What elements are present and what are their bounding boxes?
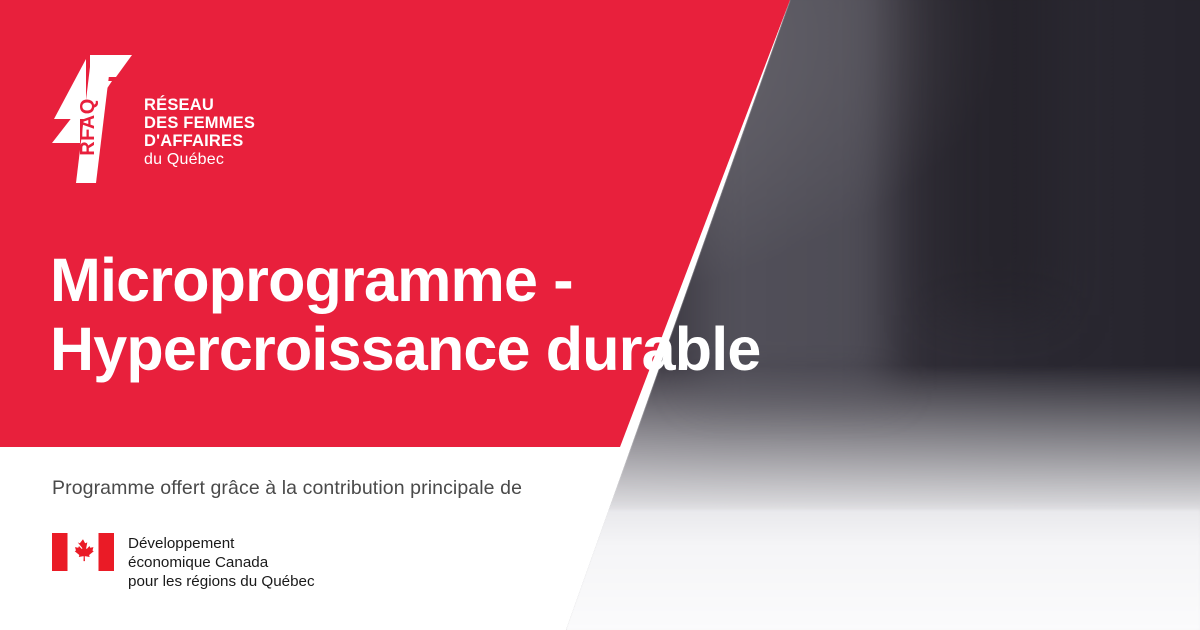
page-title: Microprogramme - Hypercroissance durable xyxy=(50,246,670,384)
brand-name-sub: du Québec xyxy=(144,151,255,168)
gov-line-2: économique Canada xyxy=(128,553,315,572)
gov-line-1: Développement xyxy=(128,534,315,553)
finger xyxy=(470,555,535,591)
rfaq-logo-mark: RFAQ xyxy=(50,55,132,183)
rfaq-logo[interactable]: RFAQ RÉSEAU DES FEMMES D'AFFAIRES du Qué… xyxy=(50,55,290,185)
pen-tip xyxy=(442,559,460,586)
svg-text:RFAQ: RFAQ xyxy=(77,98,99,156)
government-of-canada-wordmark: Développement économique Canada pour les… xyxy=(128,533,315,591)
headline-line-1: Microprogramme - xyxy=(50,246,670,315)
brand-name-line-2: DES FEMMES xyxy=(144,115,255,133)
government-of-canada-logo[interactable]: Développement économique Canada pour les… xyxy=(52,533,315,591)
headline-line-2: Hypercroissance durable xyxy=(50,315,670,384)
finger xyxy=(479,575,536,604)
sponsor-note: Programme offert grâce à la contribution… xyxy=(52,477,522,500)
brand-name-line-1: RÉSEAU xyxy=(144,97,255,115)
notebook-edge xyxy=(251,496,520,528)
gov-line-3: pour les régions du Québec xyxy=(128,572,315,591)
canada-flag-icon xyxy=(52,533,114,571)
promotional-banner: RFAQ RÉSEAU DES FEMMES D'AFFAIRES du Qué… xyxy=(0,0,1200,630)
background-blur-shape xyxy=(936,0,1056,315)
rfaq-logo-text: RÉSEAU DES FEMMES D'AFFAIRES du Québec xyxy=(144,97,255,169)
brand-name-line-3: D'AFFAIRES xyxy=(144,133,255,151)
